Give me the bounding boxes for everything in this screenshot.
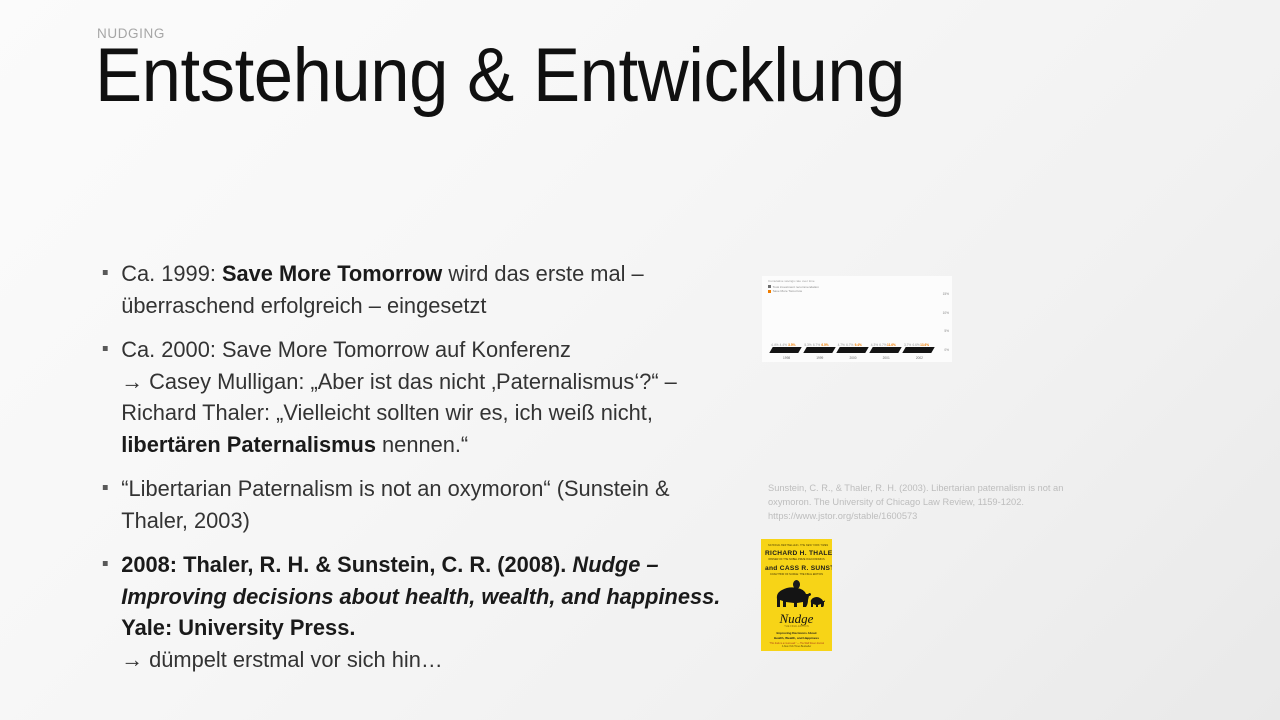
chart-bar-group: 4.7%6.7%9.4%2000 — [838, 294, 869, 348]
chart-x-tick-label: 1998 — [771, 356, 802, 360]
chart-bar-group: 4.4%4.4%3.5%1998 — [771, 294, 802, 348]
list-item-text: Ca. 2000: Save More Tomorrow auf Konfere… — [121, 337, 677, 457]
bullet-marker-icon — [103, 485, 108, 490]
savings-rate-bar-chart: Cumulative savings rate over time Took i… — [762, 276, 952, 362]
chart-canvas: Cumulative savings rate over time Took i… — [762, 276, 952, 362]
book-author-primary: RICHARD H. THALER — [765, 550, 828, 557]
chart-title: Cumulative savings rate over time — [768, 279, 819, 284]
book-blurb-line: A New York Times Bestseller — [765, 646, 828, 649]
book-author-primary-sub: WINNER OF THE NOBEL PRIZE IN ECONOMICS — [766, 558, 827, 561]
chart-y-tick-label: 0% — [944, 348, 949, 352]
chart-bar-group: 5.3%6.7%6.5%1999 — [805, 294, 836, 348]
chart-group-base — [803, 347, 836, 353]
chart-group-base — [902, 347, 935, 353]
nudge-book-cover: NATIONAL BESTSELLER • THE NEW YORK TIMES… — [761, 539, 832, 651]
page-title: Entstehung & Entwicklung — [95, 38, 905, 114]
book-subtitle-line-1: Improving Decisions About — [766, 631, 827, 635]
book-top-rule: NATIONAL BESTSELLER • THE NEW YORK TIMES — [768, 544, 825, 547]
elephant-illustration-icon — [761, 583, 832, 609]
chart-x-tick-label: 1999 — [805, 356, 836, 360]
chart-value-label: 11.6% — [885, 343, 898, 347]
chart-y-tick-label: 10% — [943, 311, 949, 315]
chart-bar-group: 4.3%6.7%11.6%2001 — [871, 294, 902, 348]
chart-legend: Cumulative savings rate over time Took i… — [768, 279, 819, 294]
chart-y-tick-label: 15% — [943, 292, 949, 296]
list-item: Ca. 2000: Save More Tomorrow auf Konfere… — [97, 334, 737, 460]
list-item-text: “Libertarian Paternalism is not an oxymo… — [121, 476, 669, 533]
chart-x-tick-label: 2000 — [838, 356, 869, 360]
chart-value-label: 3.5% — [785, 343, 798, 347]
bullet-marker-icon — [103, 346, 108, 351]
book-author-secondary-sub: COAUTHOR OF NUDGE: THE FINAL EDITION — [766, 573, 827, 576]
citation-text: Sunstein, C. R., & Thaler, R. H. (2003).… — [768, 481, 1088, 524]
list-item: Ca. 1999: Save More Tomorrow wird das er… — [97, 258, 737, 321]
citation-line: https://www.jstor.org/stable/1600573 — [768, 509, 1088, 523]
legend-swatch-icon — [768, 290, 771, 293]
citation-line: Sunstein, C. R., & Thaler, R. H. (2003).… — [768, 481, 1088, 495]
chart-value-label: 13.6% — [918, 343, 931, 347]
book-subtitle-line-2: Health, Wealth, and Happiness — [766, 636, 827, 640]
chart-value-label: 6.5% — [819, 343, 832, 347]
citation-line: oxymoron. The University of Chicago Law … — [768, 495, 1088, 509]
list-item: “Libertarian Paternalism is not an oxymo… — [97, 473, 737, 536]
chart-plot-area: 4.4%4.4%3.5%19985.3%6.7%6.5%19994.7%6.7%… — [770, 294, 936, 348]
list-item-text: 2008: Thaler, R. H. & Sunstein, C. R. (2… — [121, 552, 720, 672]
slide-canvas: NUDGING Entstehung & Entwicklung Ca. 199… — [0, 0, 1280, 720]
book-author-secondary: and CASS R. SUNSTEIN — [765, 565, 828, 572]
legend-swatch-icon — [768, 285, 771, 288]
chart-y-axis: 15%10%5%0% — [938, 292, 950, 348]
chart-value-label: 9.4% — [852, 343, 865, 347]
list-item: 2008: Thaler, R. H. & Sunstein, C. R. (2… — [97, 549, 737, 675]
chart-group-base — [836, 347, 869, 353]
book-blurb: “This book is a must-read.” — The Wall S… — [765, 643, 828, 649]
chart-bar-group: 3.7%6.6%13.6%2002 — [904, 294, 935, 348]
list-item-text: Ca. 1999: Save More Tomorrow wird das er… — [121, 261, 643, 318]
bullet-list: Ca. 1999: Save More Tomorrow wird das er… — [97, 258, 757, 688]
chart-group-base — [869, 347, 902, 353]
bullet-marker-icon — [103, 561, 108, 566]
book-tagline: THE FINAL EDITION — [766, 625, 827, 628]
chart-x-tick-label: 2002 — [904, 356, 935, 360]
chart-x-tick-label: 2001 — [871, 356, 902, 360]
chart-group-base — [770, 347, 803, 353]
chart-y-tick-label: 5% — [944, 329, 949, 333]
bullet-marker-icon — [103, 270, 108, 275]
